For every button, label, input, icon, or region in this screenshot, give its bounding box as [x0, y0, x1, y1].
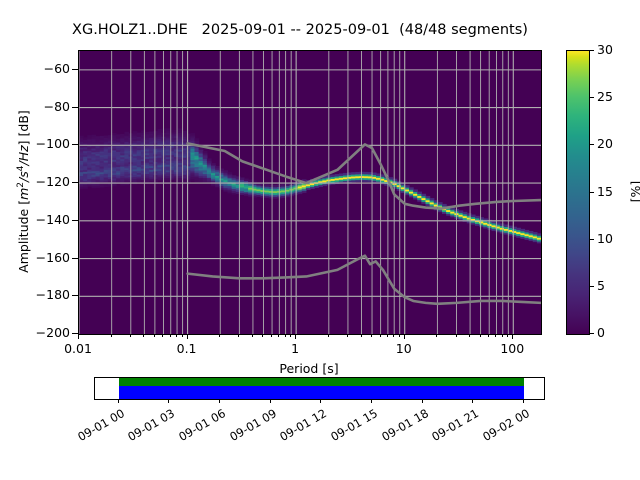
x-tick-mark-minor — [488, 334, 489, 337]
colorbar-tick-label: 30 — [597, 42, 613, 57]
x-tick-mark-minor — [219, 334, 220, 337]
noise-model-curve — [188, 143, 541, 208]
time-tick-label: 09-01 03 — [117, 406, 178, 449]
x-tick-mark-minor — [328, 334, 329, 337]
x-tick-mark-minor — [502, 334, 503, 337]
time-tick-label: 09-01 15 — [319, 406, 380, 449]
colorbar-label: [%] — [628, 50, 640, 333]
x-tick-mark-minor — [371, 334, 372, 337]
time-tick-label: 09-01 09 — [218, 406, 279, 449]
time-tick-mark — [422, 399, 423, 403]
x-tick-mark-minor — [252, 334, 253, 337]
y-tick-mark — [72, 295, 78, 296]
x-tick-mark-minor — [271, 334, 272, 337]
x-tick-mark-minor — [495, 334, 496, 337]
x-tick-mark-major — [187, 334, 188, 339]
x-tick-mark-minor — [238, 334, 239, 337]
y-tick-label: −160 — [36, 250, 70, 265]
time-tick-label: 09-01 00 — [66, 406, 127, 449]
x-tick-mark-minor — [387, 334, 388, 337]
time-tick-label: 09-01 06 — [167, 406, 228, 449]
colorbar-tick-label: 15 — [597, 184, 613, 199]
x-tick-mark-major — [295, 334, 296, 339]
y-tick-label: −100 — [36, 136, 70, 151]
x-tick-mark-minor — [480, 334, 481, 337]
x-tick-mark-minor — [111, 334, 112, 337]
x-tick-label: 0.1 — [177, 341, 197, 356]
y-tick-label: −60 — [44, 61, 70, 76]
x-tick-mark-minor — [162, 334, 163, 337]
colorbar-tick-mark — [589, 286, 594, 287]
colorbar-tick-label: 20 — [597, 136, 613, 151]
time-tick-label: 09-01 18 — [370, 406, 431, 449]
x-tick-mark-minor — [393, 334, 394, 337]
time-tick-mark — [270, 399, 271, 403]
y-tick-mark — [72, 220, 78, 221]
colorbar-tick-mark — [589, 144, 594, 145]
x-tick-label: 0.01 — [64, 341, 92, 356]
ppsd-plot-area[interactable] — [78, 50, 542, 335]
colorbar-tick-mark — [589, 192, 594, 193]
time-tick-label: 09-02 00 — [471, 406, 532, 449]
colorbar-tick-mark — [589, 239, 594, 240]
page-title: XG.HOLZ1..DHE 2025-09-01 -- 2025-09-01 (… — [0, 22, 600, 38]
y-axis-label-text: Amplitude [m2/s4/Hz] [dB] — [16, 110, 31, 273]
x-tick-mark-minor — [285, 334, 286, 337]
time-tick-mark — [472, 399, 473, 403]
y-tick-mark — [72, 258, 78, 259]
y-tick-label: −180 — [36, 287, 70, 302]
y-tick-mark — [72, 182, 78, 183]
time-tick-mark — [168, 399, 169, 403]
x-tick-mark-minor — [380, 334, 381, 337]
y-tick-label: −80 — [44, 99, 70, 114]
x-tick-mark-minor — [176, 334, 177, 337]
y-tick-mark — [72, 69, 78, 70]
y-tick-label: −120 — [36, 174, 70, 189]
colorbar[interactable] — [566, 50, 590, 335]
x-tick-mark-minor — [347, 334, 348, 337]
colorbar-tick-mark — [589, 333, 594, 334]
y-tick-mark — [72, 107, 78, 108]
x-tick-mark-minor — [262, 334, 263, 337]
y-tick-mark — [72, 144, 78, 145]
colorbar-tick-label: 5 — [597, 278, 605, 293]
y-tick-label: −140 — [36, 212, 70, 227]
x-tick-mark-minor — [399, 334, 400, 337]
x-tick-mark-minor — [456, 334, 457, 337]
colorbar-tick-label: 10 — [597, 231, 613, 246]
x-tick-mark-minor — [507, 334, 508, 337]
time-tick-mark — [219, 399, 220, 403]
time-tick-mark — [523, 399, 524, 403]
time-tick-mark — [118, 399, 119, 403]
x-tick-label: 1 — [291, 341, 299, 356]
coverage-axes[interactable] — [94, 377, 545, 400]
time-tick-mark — [320, 399, 321, 403]
y-tick-label: −200 — [36, 325, 70, 340]
time-tick-label: 09-01 21 — [420, 406, 481, 449]
x-tick-label: 10 — [396, 341, 412, 356]
plot-gridlines — [79, 51, 541, 334]
colorbar-tick-mark — [589, 97, 594, 98]
x-tick-mark-minor — [436, 334, 437, 337]
coverage-inner — [95, 378, 544, 399]
ppsd-clip — [79, 51, 541, 334]
x-tick-mark-minor — [130, 334, 131, 337]
colorbar-tick-label: 0 — [597, 325, 605, 340]
x-tick-mark-minor — [278, 334, 279, 337]
x-tick-mark-minor — [469, 334, 470, 337]
time-tick-mark — [371, 399, 372, 403]
y-axis-label: Amplitude [m2/s4/Hz] [dB] — [16, 50, 31, 333]
x-tick-mark-minor — [143, 334, 144, 337]
x-tick-mark-minor — [290, 334, 291, 337]
x-tick-mark-major — [512, 334, 513, 339]
x-tick-mark-minor — [182, 334, 183, 337]
coverage-band-blue — [119, 386, 524, 399]
coverage-band-green — [119, 378, 524, 386]
x-axis-label: Period [s] — [78, 361, 540, 376]
ppsd-figure: XG.HOLZ1..DHE 2025-09-01 -- 2025-09-01 (… — [0, 0, 640, 480]
colorbar-tick-mark — [589, 50, 594, 51]
colorbar-tick-label: 25 — [597, 89, 613, 104]
x-tick-mark-minor — [361, 334, 362, 337]
x-tick-mark-minor — [154, 334, 155, 337]
x-tick-label: 100 — [500, 341, 524, 356]
x-tick-mark-minor — [170, 334, 171, 337]
x-tick-mark-major — [78, 334, 79, 339]
x-tick-mark-major — [404, 334, 405, 339]
time-tick-label: 09-01 12 — [269, 406, 330, 449]
